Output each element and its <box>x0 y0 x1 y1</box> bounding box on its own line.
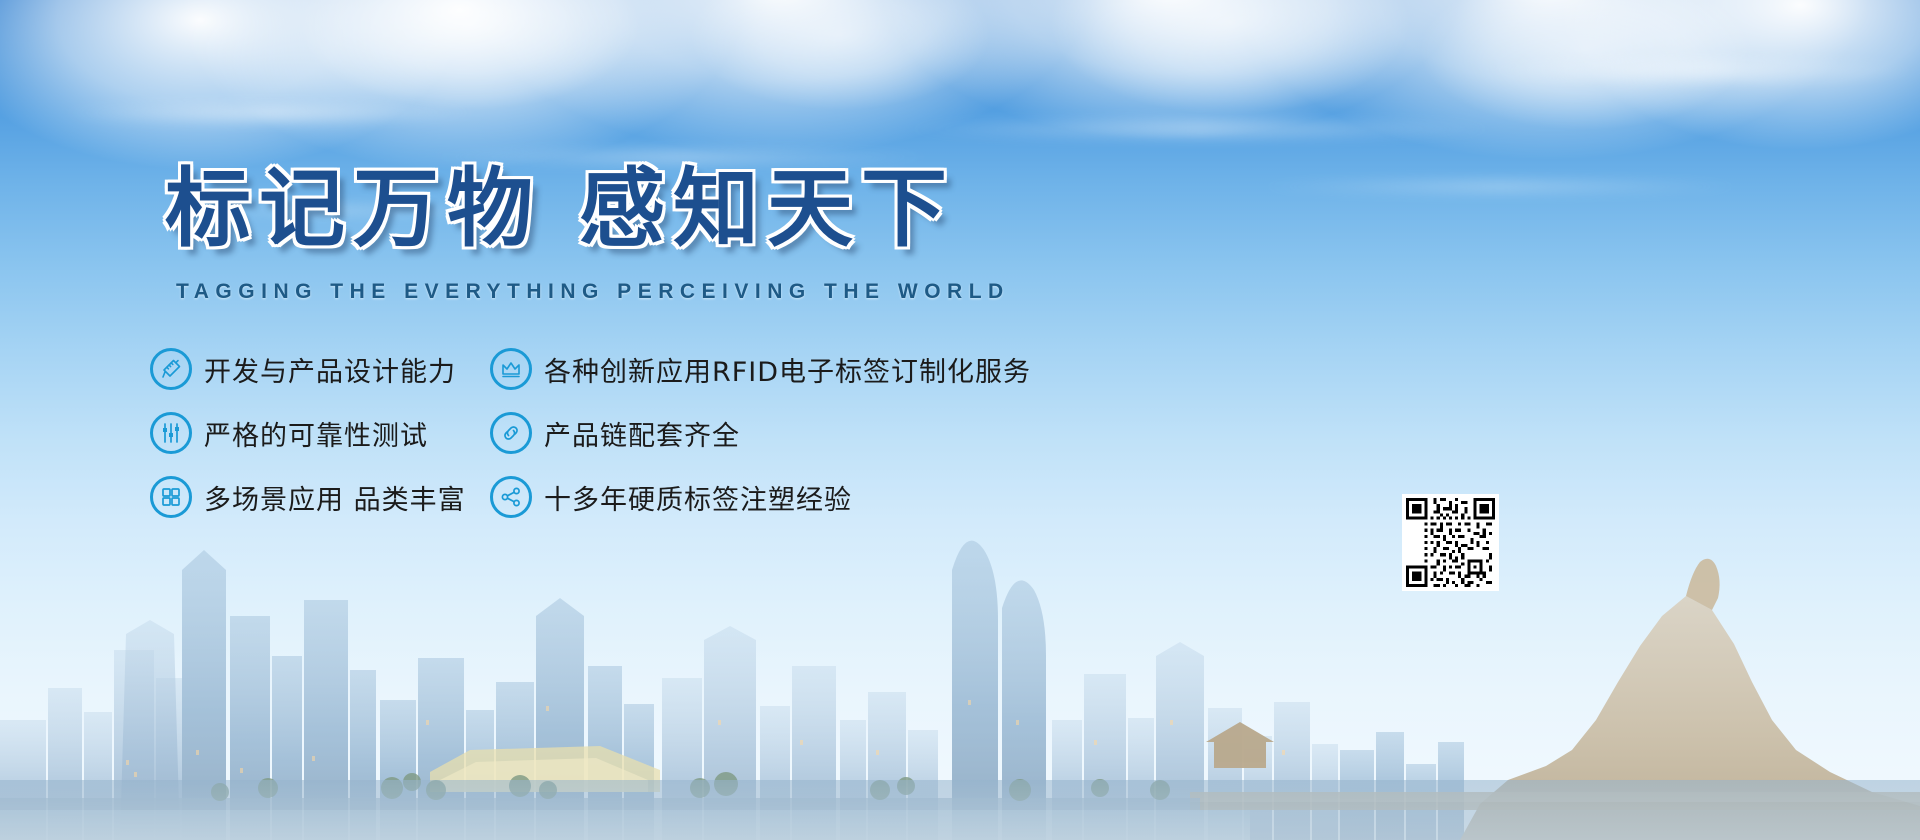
feature-row: 严格的可靠性测试 产品链配套齐全 <box>150 412 1150 454</box>
feature-label: 开发与产品设计能力 <box>204 350 456 389</box>
link-icon <box>490 412 532 454</box>
feature-item-design[interactable]: 开发与产品设计能力 <box>150 348 490 390</box>
feature-list: 开发与产品设计能力 各种创新应用RFID电子标签订制化服务 <box>150 288 1150 534</box>
feature-row: 开发与产品设计能力 各种创新应用RFID电子标签订制化服务 <box>150 348 1150 390</box>
page-title: 标记万物 感知天下 <box>165 138 955 263</box>
foreground-ground <box>0 780 1920 840</box>
feature-label: 十多年硬质标签注塑经验 <box>544 478 852 517</box>
feature-row: 多场景应用 品类丰富 十多年硬质标签注塑经验 <box>150 476 1150 518</box>
feature-item-scenarios[interactable]: 多场景应用 品类丰富 <box>150 476 490 518</box>
feature-label: 各种创新应用RFID电子标签订制化服务 <box>544 350 1031 389</box>
crown-icon <box>490 348 532 390</box>
feature-label: 多场景应用 品类丰富 <box>204 478 466 517</box>
grid-icon <box>150 476 192 518</box>
qr-code[interactable] <box>1402 494 1499 591</box>
sliders-icon <box>150 412 192 454</box>
feature-item-reliability-test[interactable]: 严格的可靠性测试 <box>150 412 490 454</box>
feature-label: 产品链配套齐全 <box>544 414 740 453</box>
feature-item-experience[interactable]: 十多年硬质标签注塑经验 <box>490 476 1050 518</box>
share-network-icon <box>490 476 532 518</box>
feature-item-rfid-custom[interactable]: 各种创新应用RFID电子标签订制化服务 <box>490 348 1050 390</box>
feature-item-supply-chain[interactable]: 产品链配套齐全 <box>490 412 1050 454</box>
promo-banner: 标记万物 感知天下 TAGGING THE EVERYTHING PERCEIV… <box>0 0 1920 840</box>
feature-label: 严格的可靠性测试 <box>204 414 428 453</box>
pencil-ruler-icon <box>150 348 192 390</box>
